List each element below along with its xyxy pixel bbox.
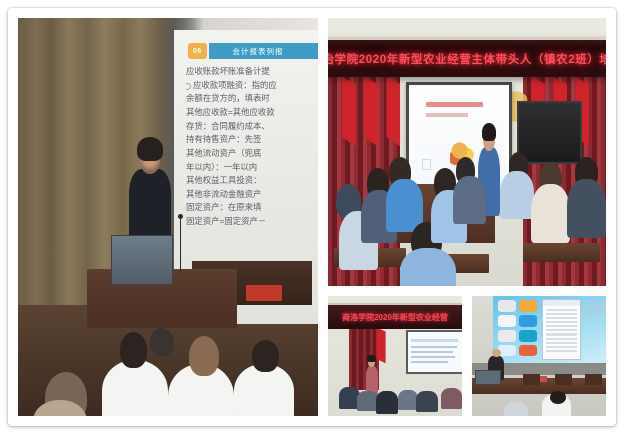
slide-line-6: 持有待售资产：先签 [186,133,318,147]
screen-text-line [411,361,448,363]
audience-member [189,336,219,376]
note-line [583,313,606,315]
slide-line-9: 其他权益工具投资： [186,174,318,188]
screen-text-line [411,346,457,348]
photo-lecture-slide[interactable]: 06 会计报表列报 应收账款坏账准备计提 应收款项融资：指的应 余额在贷方的，填… [18,18,318,416]
file-list-row[interactable] [546,329,577,331]
chair [555,374,572,385]
file-icon[interactable] [498,315,516,327]
app-icon[interactable] [519,315,537,327]
audience-member [252,340,279,372]
slide-line-8: 年以内）：一年以内 [186,161,318,175]
audience-member [376,391,397,414]
photo-desktop-projection[interactable] [472,296,606,416]
collage-grid: 06 会计报表列报 应收账款坏账准备计提 应收款项融资：指的应 余额在贷方的，填… [18,18,606,416]
audience-member [550,391,566,404]
chair [523,374,540,385]
file-dialog-window[interactable] [542,299,581,360]
weather-icon[interactable] [498,330,516,342]
shield-icon[interactable] [498,345,516,357]
photo-hall-banner[interactable]: 治学院2020年新型农业经营主体带头人（镇农2班）培 [328,18,606,286]
presenter-laptop [475,370,501,385]
red-flag [386,77,400,147]
file-list-row[interactable] [546,338,577,340]
red-flag [376,327,385,363]
hall-audience [531,184,570,243]
photo-speaker-banner[interactable]: 商洛学院2020年新型农业经营 [328,296,462,416]
slide-line-4: 其他应收款=其他应收款 [186,106,318,120]
slide-line-2: 应收款项融资：指的应 [186,79,318,93]
screen-header-bar [411,339,458,342]
slide-line-1: 应收账款坏账准备计提 [186,65,318,79]
projected-desktop [493,296,606,363]
note-line [583,304,606,306]
slide-line-11: 固定资产：在原来填 [186,201,318,215]
desktop-icon-grid [498,300,537,356]
hall-audience [453,176,486,224]
red-flag [364,77,378,147]
document-icon[interactable] [498,300,516,312]
audience-member [150,328,174,356]
audience-member [357,391,377,411]
audience-member [120,332,147,368]
audience-member [398,390,418,410]
slide-header-bar: 会计报表列报 [209,43,319,58]
file-list-row[interactable] [546,350,577,352]
file-list-row[interactable] [546,309,577,311]
red-nameplate [246,285,282,301]
hall-audience [400,248,456,286]
wall-monitor [517,101,582,164]
file-list-row[interactable] [546,346,577,348]
audience-member [441,388,462,408]
led-banner-speaker: 商洛学院2020年新型农业经营 [328,303,462,329]
chair [585,374,602,385]
slide-line-7: 其他流动资产（兜底 [186,147,318,161]
file-list-row[interactable] [546,325,577,327]
hall-audience [500,171,533,219]
note-line [583,300,606,302]
file-list-row[interactable] [546,313,577,315]
photo-collage: 06 会计报表列报 应收账款坏账准备计提 应收款项融资：指的应 余额在贷方的，填… [8,8,616,426]
slide-section-badge: 06 [188,43,208,58]
file-list-row[interactable] [546,333,577,335]
file-list-row[interactable] [546,317,577,319]
desktop-note-panel [583,300,606,327]
folder-icon[interactable] [519,300,537,312]
slide-logo-mark [422,159,431,171]
audience-member [416,391,437,413]
media-icon[interactable] [519,345,537,357]
slide-line-5: 存货：合同履约成本、 [186,120,318,134]
slide-line-12: 固定资产=固定资产－ [186,215,318,229]
slide-line-3: 余额在贷方的，填表时 [186,92,318,106]
projection-screen [406,330,462,375]
led-banner-text: 商洛学院2020年新型农业经营 [342,312,448,323]
audience-member [102,360,168,416]
slide-line-10: 其他非流动金融资产 [186,188,318,202]
hall-bench [523,243,601,262]
led-banner-text: 治学院2020年新型农业经营主体带头人（镇农2班）培 [328,51,606,67]
dialog-titlebar [543,300,580,305]
browser-icon[interactable] [519,330,537,342]
screen-text-line [411,356,455,358]
audience-member [504,402,528,416]
file-list-row[interactable] [546,321,577,323]
led-banner-hall: 治学院2020年新型农业经营主体带头人（镇农2班）培 [328,37,606,78]
slide-title-block [426,102,483,107]
file-list-row[interactable] [546,342,577,344]
screen-text-line [411,351,453,353]
red-flag [342,77,356,147]
hall-audience [567,179,606,238]
presenter-laptop [111,235,173,285]
microphone-icon [180,217,181,273]
note-line [583,309,606,311]
slide-subtitle-block [426,113,468,116]
